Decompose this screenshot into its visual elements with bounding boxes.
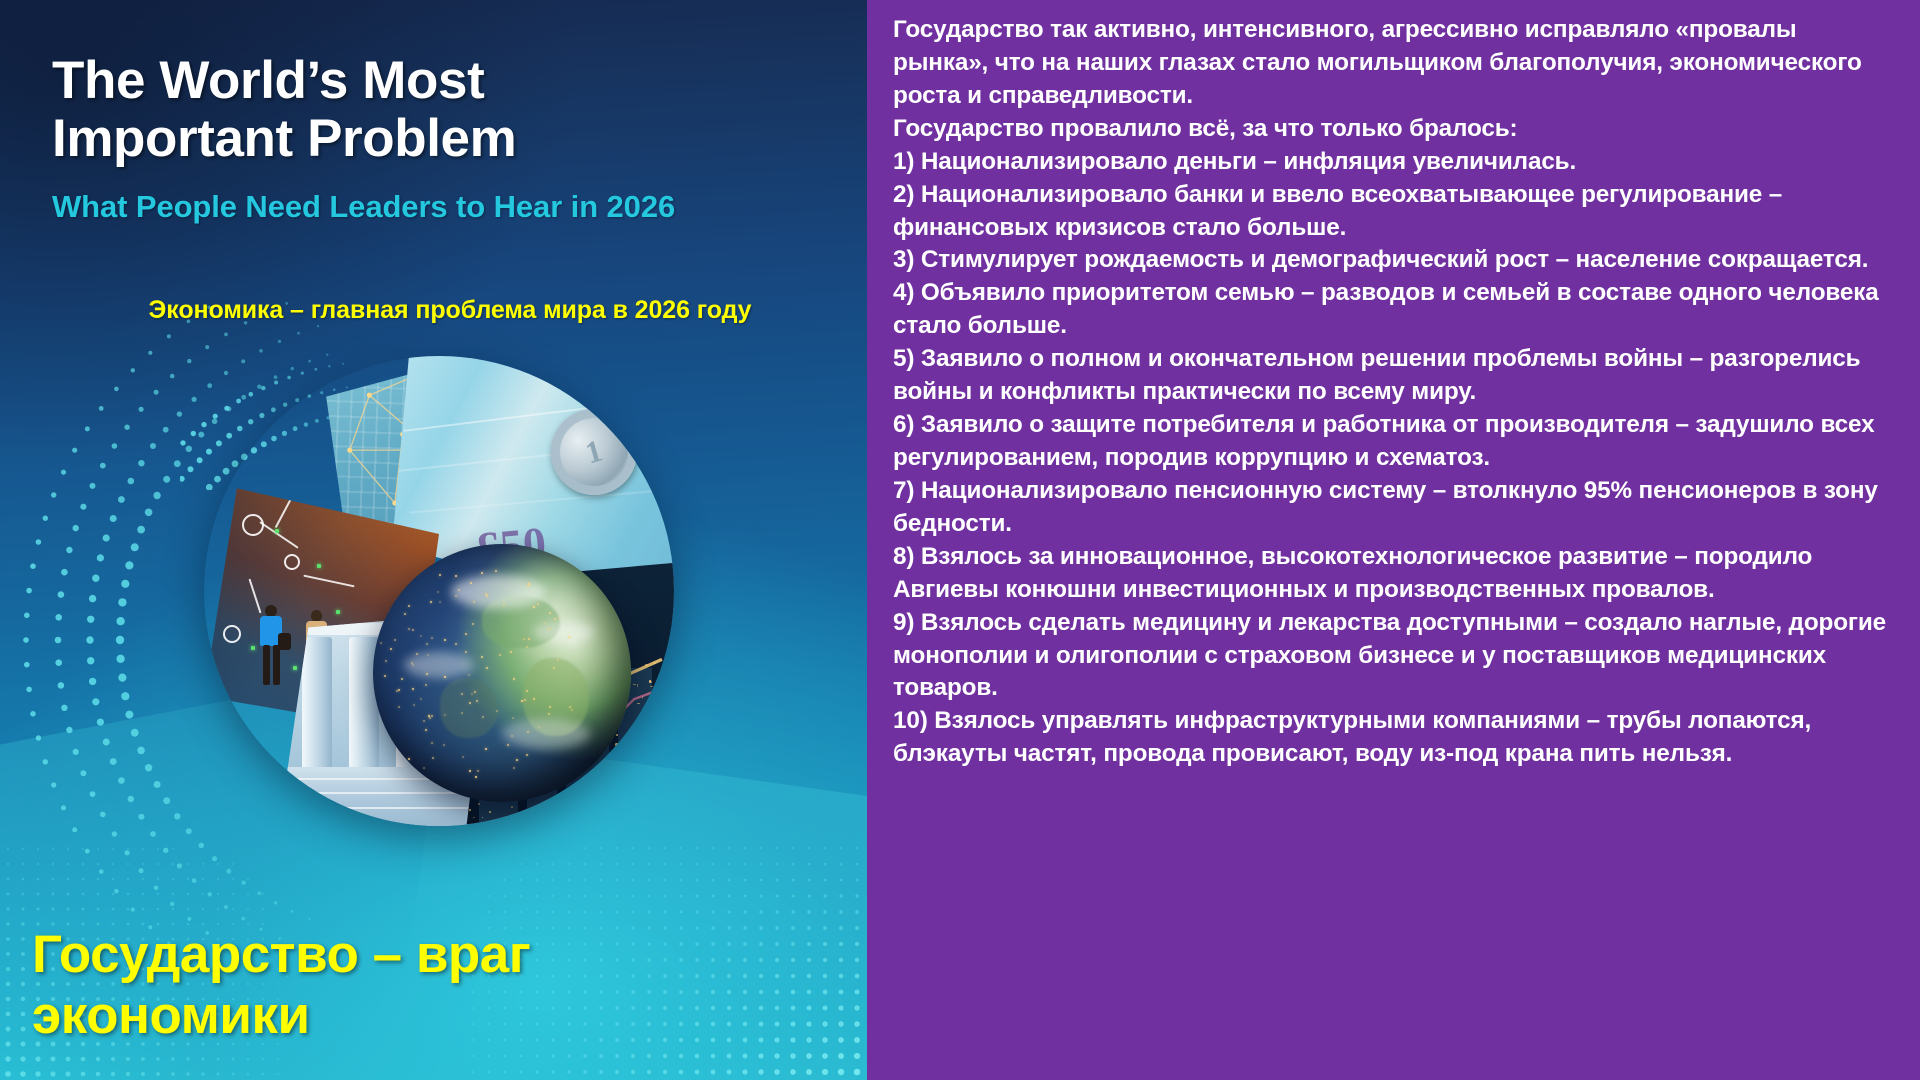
page-title: The World’s Most Important Problem	[52, 52, 812, 168]
globe-city-light	[469, 770, 471, 772]
paragraph-1: Государство так активно, интенсивного, а…	[893, 14, 1894, 113]
globe-city-light	[380, 642, 382, 644]
globe-city-light	[476, 700, 478, 702]
city-light-dot	[669, 802, 670, 804]
globe-city-light	[475, 776, 477, 778]
globe-city-light	[432, 757, 434, 759]
city-light-dot	[653, 694, 655, 697]
globe-city-light	[510, 651, 512, 653]
city-light-dot	[650, 681, 652, 683]
earth-globe-image	[373, 544, 631, 802]
globe-city-light	[398, 706, 400, 708]
city-light-dot	[599, 795, 600, 797]
city-light-dot	[478, 803, 480, 804]
globe-city-light	[465, 651, 467, 653]
argument-list-text: Государство так активно, интенсивного, а…	[893, 14, 1894, 771]
globe-city-light	[384, 675, 386, 677]
paragraph-3: 1) Национализировало деньги – инфляция у…	[893, 146, 1894, 179]
page-subtitle: What People Need Leaders to Hear in 2026	[52, 189, 812, 225]
globe-city-light	[569, 706, 571, 708]
slide-root: The World’s Most Important Problem What …	[0, 0, 1920, 1080]
globe-city-light	[444, 676, 446, 678]
caption-bottom-russian: Государство – враг экономики	[32, 924, 732, 1046]
globe-city-light	[412, 688, 414, 690]
city-light-dot	[650, 701, 653, 704]
globe-city-light	[548, 713, 550, 715]
globe-city-light	[472, 623, 474, 625]
globe-city-light	[443, 744, 445, 746]
globe-city-light	[482, 716, 484, 718]
city-light-dot	[668, 693, 670, 696]
globe-city-light	[423, 767, 425, 769]
globe-city-light	[537, 603, 539, 605]
globe-city-light	[411, 662, 413, 664]
globe-city-light	[425, 684, 427, 686]
globe-city-light	[471, 693, 473, 695]
paragraph-12: 10) Взялось управлять инфраструктурными …	[893, 705, 1894, 771]
pedestrian-figure-man	[256, 605, 290, 689]
city-light-dot	[660, 715, 663, 717]
city-light-dot	[669, 753, 672, 755]
paragraph-8: 6) Заявило о защите потребителя и работн…	[893, 409, 1894, 475]
globe-city-light	[394, 639, 396, 641]
globe-city-light	[485, 748, 487, 750]
euro-coin-icon: 1	[541, 398, 647, 504]
globe-city-light	[473, 601, 475, 603]
city-light-dot	[612, 819, 615, 821]
city-light-dot	[615, 743, 617, 746]
globe-city-light	[412, 629, 414, 631]
globe-city-light	[413, 704, 415, 706]
city-light-dot	[668, 725, 669, 728]
city-light-dot	[648, 718, 649, 721]
globe-city-light	[439, 601, 441, 603]
city-light-dot	[664, 700, 666, 701]
globe-city-light	[513, 678, 515, 680]
city-light-dot	[643, 821, 645, 824]
globe-city-light	[558, 617, 560, 619]
city-light-dot	[616, 734, 618, 736]
globe-city-light	[426, 643, 428, 645]
globe-city-light	[516, 759, 518, 761]
city-light-dot	[642, 696, 643, 698]
globe-city-light	[470, 582, 472, 584]
globe-city-light	[439, 574, 441, 576]
headline-block: The World’s Most Important Problem What …	[52, 52, 812, 225]
city-light-dot	[638, 796, 641, 798]
city-light-dot	[640, 738, 643, 741]
globe-city-light	[481, 656, 483, 658]
globe-city-light	[420, 698, 422, 700]
paragraph-9: 7) Национализировало пенсионную систему …	[893, 475, 1894, 541]
city-light-dot	[609, 819, 610, 821]
globe-city-light	[420, 635, 422, 637]
globe-city-light	[486, 595, 488, 597]
globe-city-light	[465, 633, 467, 635]
globe-city-light	[444, 639, 446, 641]
globe-city-light	[499, 654, 501, 656]
globe-city-light	[486, 667, 488, 669]
paragraph-2: Государство провалило всё, за что только…	[893, 113, 1894, 146]
collage-circle-image: 1 £50	[204, 356, 674, 826]
city-light-dot	[469, 809, 470, 812]
globe-city-light	[390, 648, 392, 650]
globe-city-light	[544, 622, 546, 624]
right-text-panel: Государство так активно, интенсивного, а…	[867, 0, 1920, 1080]
globe-city-light	[431, 715, 433, 717]
globe-city-light	[426, 673, 428, 675]
globe-city-light	[431, 742, 433, 744]
globe-city-light	[429, 717, 431, 719]
globe-city-light	[412, 664, 414, 666]
city-light-dot	[522, 816, 525, 818]
globe-city-light	[553, 667, 555, 669]
globe-city-light	[468, 674, 470, 676]
globe-city-light	[386, 610, 388, 612]
globe-city-light	[549, 612, 551, 614]
globe-city-light	[512, 717, 514, 719]
globe-city-light	[507, 744, 509, 746]
globe-city-light	[404, 613, 406, 615]
globe-city-light	[495, 570, 497, 572]
globe-city-light	[408, 758, 410, 760]
globe-city-light	[481, 572, 483, 574]
globe-city-light	[455, 643, 457, 645]
globe-city-light	[408, 628, 410, 630]
globe-city-light	[524, 699, 526, 701]
city-light-dot	[607, 758, 610, 759]
city-light-dot	[588, 793, 591, 795]
paragraph-4: 2) Национализировало банки и ввело всеох…	[893, 179, 1894, 245]
globe-city-light	[548, 628, 550, 630]
city-light-dot	[586, 800, 589, 803]
city-light-dot	[563, 795, 565, 798]
globe-city-light	[423, 720, 425, 722]
globe-city-light	[416, 653, 418, 655]
globe-city-light	[462, 756, 464, 758]
paragraph-7: 5) Заявило о полном и окончательном реше…	[893, 343, 1894, 409]
city-light-dot	[597, 801, 599, 803]
paragraph-11: 9) Взялось сделать медицину и лекарства …	[893, 607, 1894, 706]
globe-city-light	[425, 729, 427, 731]
globe-city-light	[523, 638, 525, 640]
city-light-dot	[635, 803, 637, 804]
city-light-dot	[655, 815, 658, 816]
globe-city-light	[526, 754, 528, 756]
city-light-dot	[544, 811, 546, 812]
globe-city-light	[385, 660, 387, 662]
caption-top-russian: Экономика – главная проблема мира в 2026…	[55, 296, 845, 325]
paragraph-10: 8) Взялось за инновационное, высокотехно…	[893, 541, 1894, 607]
paragraph-5: 3) Стимулирует рождаемость и демографиче…	[893, 244, 1894, 277]
globe-city-light	[431, 637, 433, 639]
city-light-dot	[614, 760, 616, 763]
globe-city-light	[513, 767, 515, 769]
city-light-dot	[622, 760, 625, 762]
paragraph-6: 4) Объявило приоритетом семью – разводов…	[893, 277, 1894, 343]
globe-city-light	[430, 601, 432, 603]
globe-city-light	[477, 770, 479, 772]
globe-city-light	[408, 605, 410, 607]
city-light-dot	[473, 817, 475, 818]
city-light-dot	[669, 821, 670, 824]
globe-city-light	[437, 591, 439, 593]
city-light-dot	[519, 821, 522, 824]
globe-city-light	[401, 678, 403, 680]
city-light-dot	[665, 682, 668, 685]
globe-city-light	[455, 575, 457, 577]
globe-city-light	[474, 691, 476, 693]
left-hero-panel: The World’s Most Important Problem What …	[0, 0, 867, 1080]
city-light-dot	[665, 711, 667, 713]
